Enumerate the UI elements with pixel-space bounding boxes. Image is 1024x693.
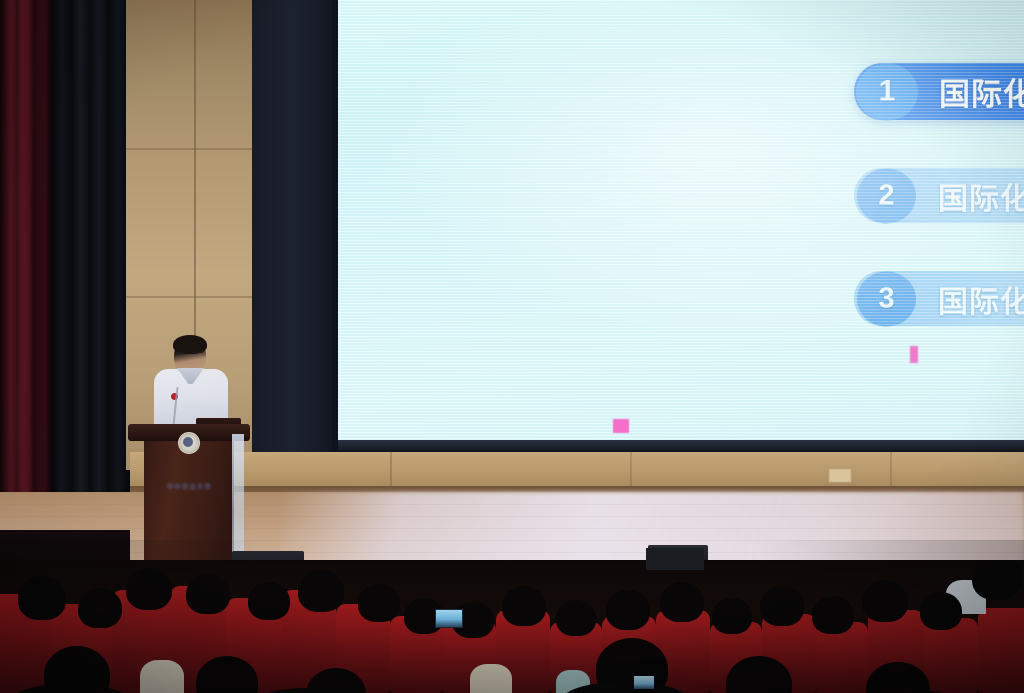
audience-head <box>812 596 854 634</box>
screen-bottom-edge <box>338 440 1024 450</box>
audience-head <box>502 586 546 626</box>
projection-screen: 1 国际化的一流学科 2 国际化的教师队伍 3 国际化的人才培养 <box>338 0 1024 447</box>
slide-item-3: 3 国际化的人才培养 <box>854 271 1024 326</box>
audience-head <box>298 570 344 612</box>
audience-head <box>248 582 290 620</box>
slide-item-3-label: 国际化的人才培养 <box>938 277 1024 321</box>
wall-sign <box>828 468 852 483</box>
audience-head <box>78 588 122 628</box>
stage-wall-band-seams <box>130 452 1024 488</box>
audience-head <box>660 582 704 622</box>
pink-marker-right-icon <box>910 346 918 363</box>
wall-panel-dark <box>252 0 344 452</box>
stage-curtain-black-folds <box>52 0 130 520</box>
auditorium-photo: 1 国际化的一流学科 2 国际化的教师队伍 3 国际化的人才培养 <box>0 0 1024 693</box>
slide-item-2-number: 2 <box>857 168 916 223</box>
audience-shirt <box>140 660 184 693</box>
audience-head <box>186 574 230 614</box>
slide-item-2-label: 国际化的教师队伍 <box>938 174 1024 218</box>
audience-laptop-left <box>435 609 463 628</box>
audience-laptop-center <box>634 676 654 689</box>
audience-seat <box>978 608 1024 693</box>
podium-banner-text: 华中农业大学 <box>152 478 226 496</box>
audience-head <box>556 600 596 636</box>
university-crest-inner <box>183 437 193 447</box>
slide-item-1-label: 国际化的一流学科 <box>939 69 1024 114</box>
audience-head <box>358 584 400 622</box>
pink-marker-lower-icon <box>613 419 629 433</box>
audience-head <box>862 580 908 622</box>
audience-head <box>18 576 66 620</box>
slide-item-2: 2 国际化的教师队伍 <box>854 168 1024 223</box>
center-equipment-box <box>646 548 704 570</box>
audience-head <box>606 590 650 630</box>
audience-head <box>972 560 1022 600</box>
glasses-icon <box>177 352 203 359</box>
audience-head <box>126 568 172 610</box>
slide-item-1-number: 1 <box>856 63 918 120</box>
audience-head <box>760 586 804 626</box>
slide-item-1: 1 国际化的一流学科 <box>854 63 1024 120</box>
audience-head <box>712 598 752 634</box>
audience-head <box>920 592 962 630</box>
audience-shirt <box>470 664 512 693</box>
stage-curtain-red-folds <box>0 0 58 538</box>
slide-item-3-number: 3 <box>857 271 916 326</box>
audience-area <box>0 560 1024 693</box>
